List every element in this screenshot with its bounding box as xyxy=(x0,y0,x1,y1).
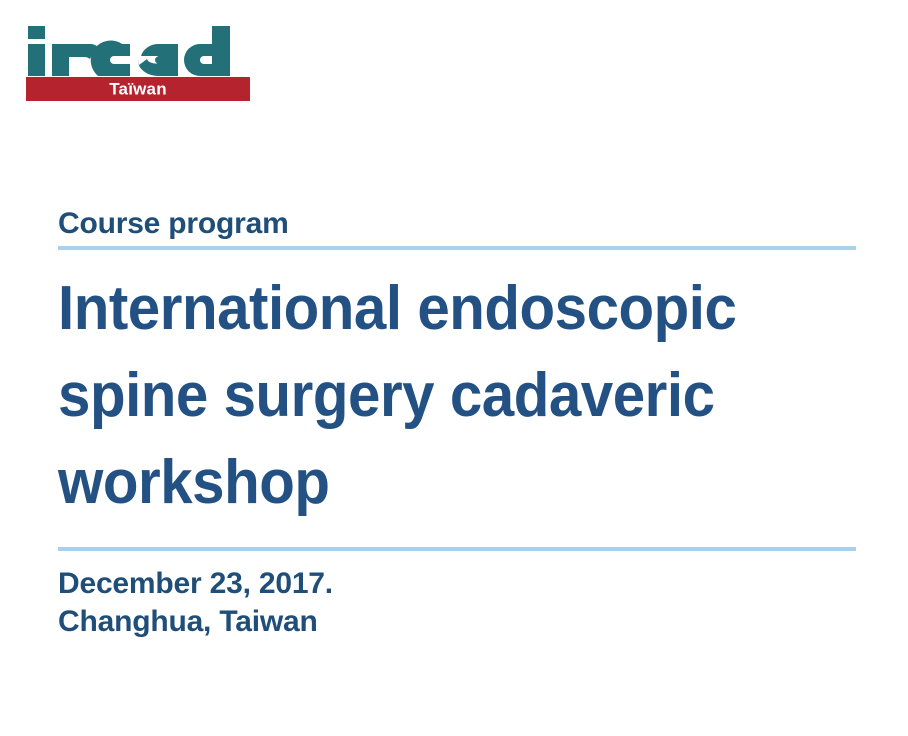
event-location: Changhua, Taiwan xyxy=(58,603,856,641)
eyebrow-course-program: Course program xyxy=(58,208,856,246)
event-details: December 23, 2017. Changhua, Taiwan xyxy=(58,551,856,642)
page-title: International endoscopic spine surgery c… xyxy=(58,250,808,546)
logo-banner-text: Taïwan xyxy=(26,81,250,98)
logo-banner: Taïwan xyxy=(26,77,250,101)
cover-content: Course program International endoscopic … xyxy=(58,208,856,642)
ircad-logo: Taïwan xyxy=(26,24,250,101)
ircad-wordmark-icon xyxy=(26,24,250,76)
event-date: December 23, 2017. xyxy=(58,565,856,603)
